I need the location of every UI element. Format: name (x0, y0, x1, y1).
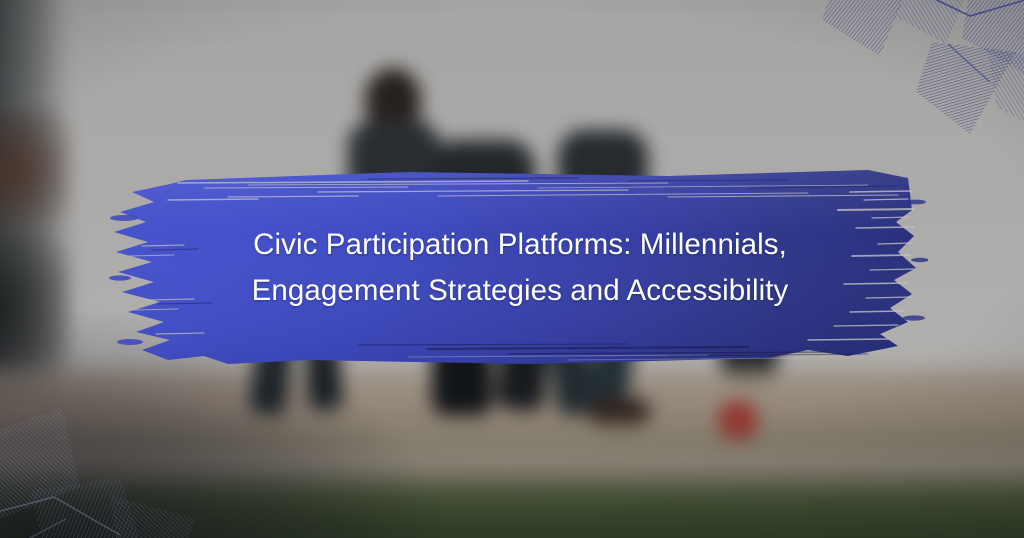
banner-title-line-2: Engagement Strategies and Accessibility (180, 268, 860, 314)
blog-header-banner: Civic Participation Platforms: Millennia… (0, 0, 1024, 538)
banner-title-line-1: Civic Participation Platforms: Millennia… (180, 222, 860, 268)
banner-title: Civic Participation Platforms: Millennia… (180, 222, 860, 314)
